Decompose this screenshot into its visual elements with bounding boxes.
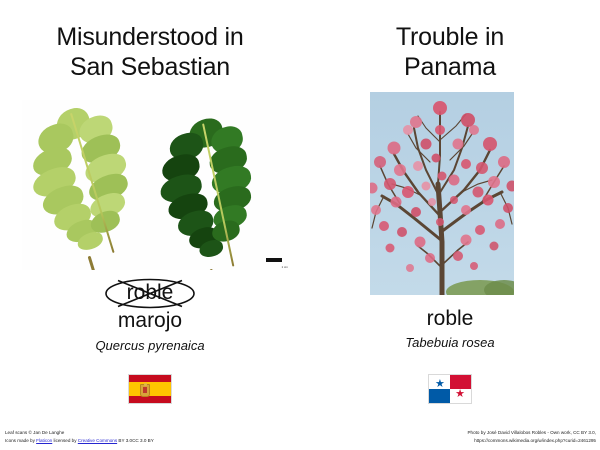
footer-right-line-1: Photo by José David Villalobos Robles - … (467, 429, 596, 437)
foliage-base (446, 280, 514, 295)
panel-left-spain: Misunderstood in San Sebastian (0, 0, 300, 420)
panama-flag-quadrant-bottom-left (429, 389, 450, 403)
flag-of-spain-icon (128, 374, 172, 404)
cross-out-ellipse-icon (104, 278, 196, 309)
right-scientific-name: Tabebuia rosea (300, 334, 600, 351)
tree-illustration (370, 92, 514, 295)
footer-right-credits: Photo by José David Villalobos Robles - … (467, 429, 596, 445)
panama-flag-quadrant-top-right (450, 375, 471, 389)
left-title-line-1: Misunderstood in (0, 22, 300, 52)
pale-oak-leaf (22, 100, 170, 270)
spain-coat-of-arms (140, 384, 150, 397)
creative-commons-link[interactable]: Creative Commons (78, 438, 117, 443)
left-common-name: marojo (0, 308, 300, 334)
tabebuia-rosea-tree-photo (370, 92, 514, 295)
scale-bar-label: 1 cm (281, 265, 288, 269)
flaticon-link[interactable]: Flaticon (36, 438, 52, 443)
right-title-line-2: Panama (300, 52, 600, 82)
flag-of-panama-icon: ★ ★ (428, 374, 472, 404)
right-title-line-1: Trouble in (300, 22, 600, 52)
right-panel-title: Trouble in Panama (300, 22, 600, 82)
oak-leaf-scan-image: 1 cm (22, 100, 290, 270)
footer-right-line-2: https://commons.wikimedia.org/w/index.ph… (467, 437, 596, 445)
left-panel-title: Misunderstood in San Sebastian (0, 22, 300, 82)
scale-bar-icon (266, 258, 282, 262)
footer-left-text-3: BY 3.0CC 3.0 BY (117, 438, 154, 443)
footer-left-text-1: Icons made by (5, 438, 36, 443)
footer-left-credits: Leaf scans © Jan De Langhe Icons made by… (5, 429, 154, 445)
footer-left-line-1: Leaf scans © Jan De Langhe (5, 429, 154, 437)
footer-left-line-2: Icons made by Flaticon licensed by Creat… (5, 437, 154, 445)
pale-leaf-blade (22, 100, 170, 270)
left-title-line-2: San Sebastian (0, 52, 300, 82)
panama-red-star-icon: ★ (455, 389, 465, 400)
crossed-out-name-group: roble (0, 278, 300, 310)
left-scientific-name: Quercus pyrenaica (0, 337, 300, 354)
slide-canvas: Misunderstood in San Sebastian (0, 0, 600, 450)
right-common-name: roble (300, 306, 600, 332)
footer-left-text-2: licensed by (52, 438, 78, 443)
dark-oak-leaf (145, 108, 290, 270)
panama-blue-star-icon: ★ (435, 379, 445, 390)
spain-flag-yellow-band (129, 382, 171, 396)
